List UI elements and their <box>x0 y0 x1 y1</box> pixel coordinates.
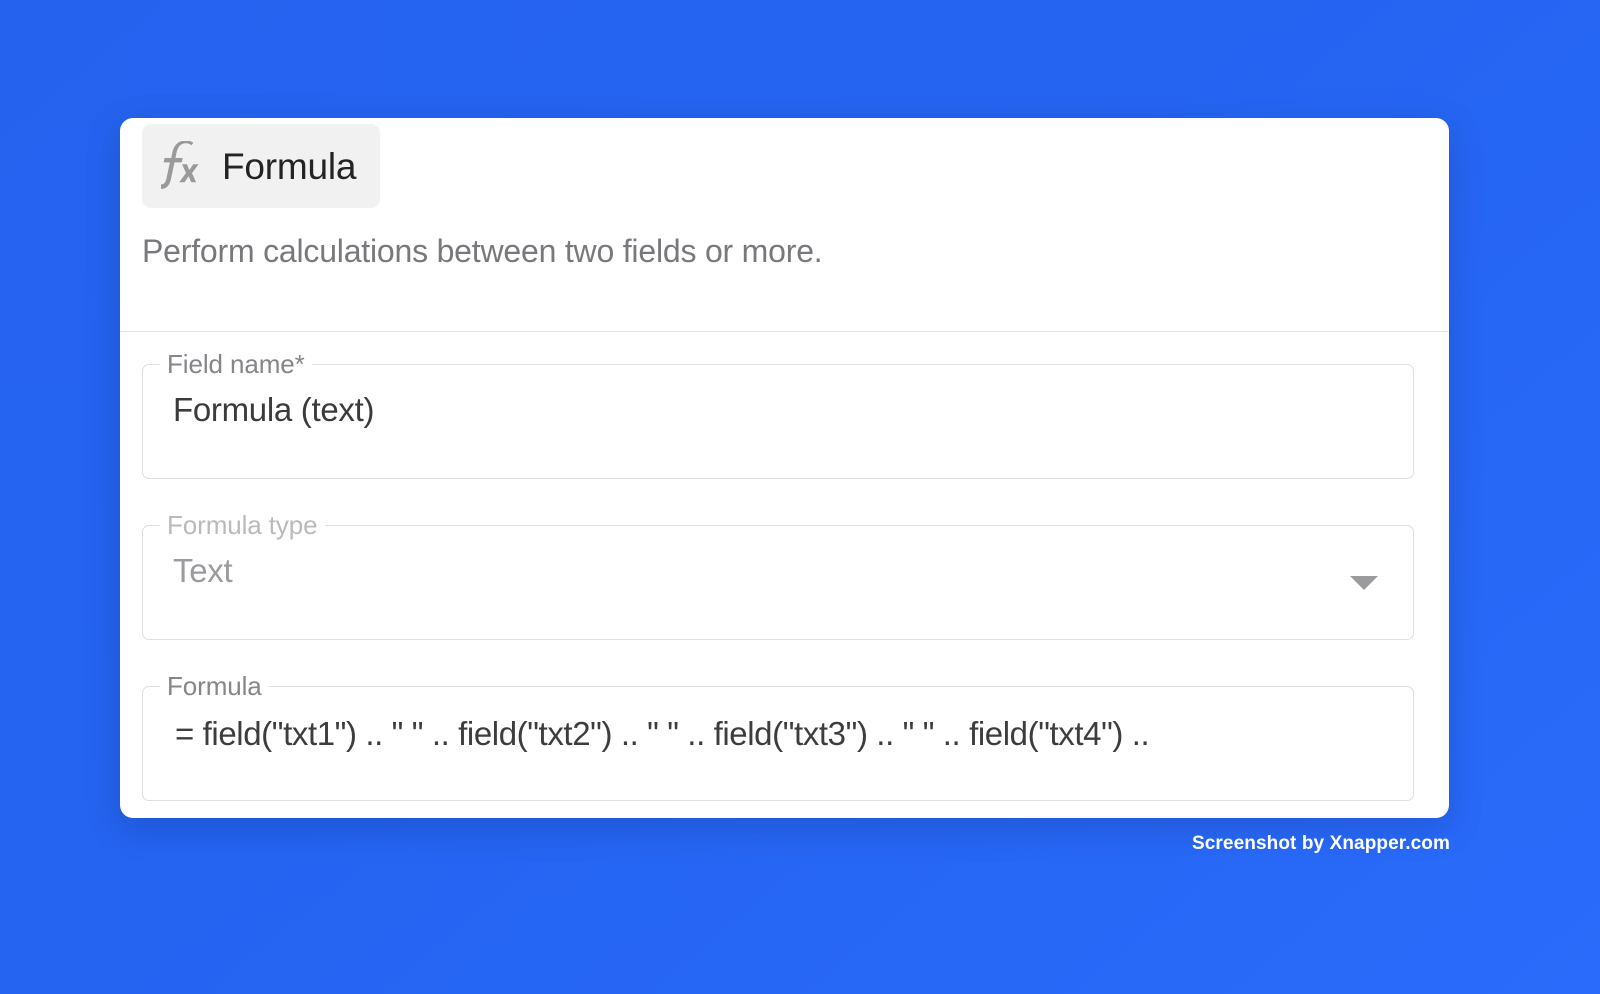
formula-expression-input[interactable]: = field("txt1") .. " " .. field("txt2") … <box>175 714 1149 754</box>
formula-form: Field name* Formula (text) Formula type … <box>120 332 1449 818</box>
formula-field-card: Formula Perform calculations between two… <box>120 118 1449 818</box>
formula-type-field[interactable]: Formula type Text <box>142 525 1414 640</box>
formula-type-label-notch: Formula type <box>160 513 325 537</box>
xnapper-watermark: Screenshot by Xnapper.com <box>1192 833 1450 855</box>
fx-icon <box>160 140 206 192</box>
field-type-pill[interactable]: Formula <box>142 124 380 208</box>
field-name-field[interactable]: Field name* Formula (text) <box>142 364 1414 479</box>
formula-expression-label: Formula <box>167 673 262 699</box>
formula-type-label: Formula type <box>167 512 318 538</box>
chevron-down-icon[interactable] <box>1350 576 1378 590</box>
card-header: Formula Perform calculations between two… <box>120 118 1449 331</box>
field-name-label-notch: Field name* <box>160 352 312 376</box>
field-name-input[interactable]: Formula (text) <box>173 390 374 430</box>
field-name-label: Field name* <box>167 351 305 377</box>
field-type-description: Perform calculations between two fields … <box>142 233 822 270</box>
field-type-title: Formula <box>222 148 356 185</box>
formula-type-select-value[interactable]: Text <box>173 551 232 591</box>
formula-expression-field[interactable]: Formula = field("txt1") .. " " .. field(… <box>142 686 1414 801</box>
formula-type-outline <box>142 525 1414 640</box>
formula-expression-label-notch: Formula <box>160 674 269 698</box>
